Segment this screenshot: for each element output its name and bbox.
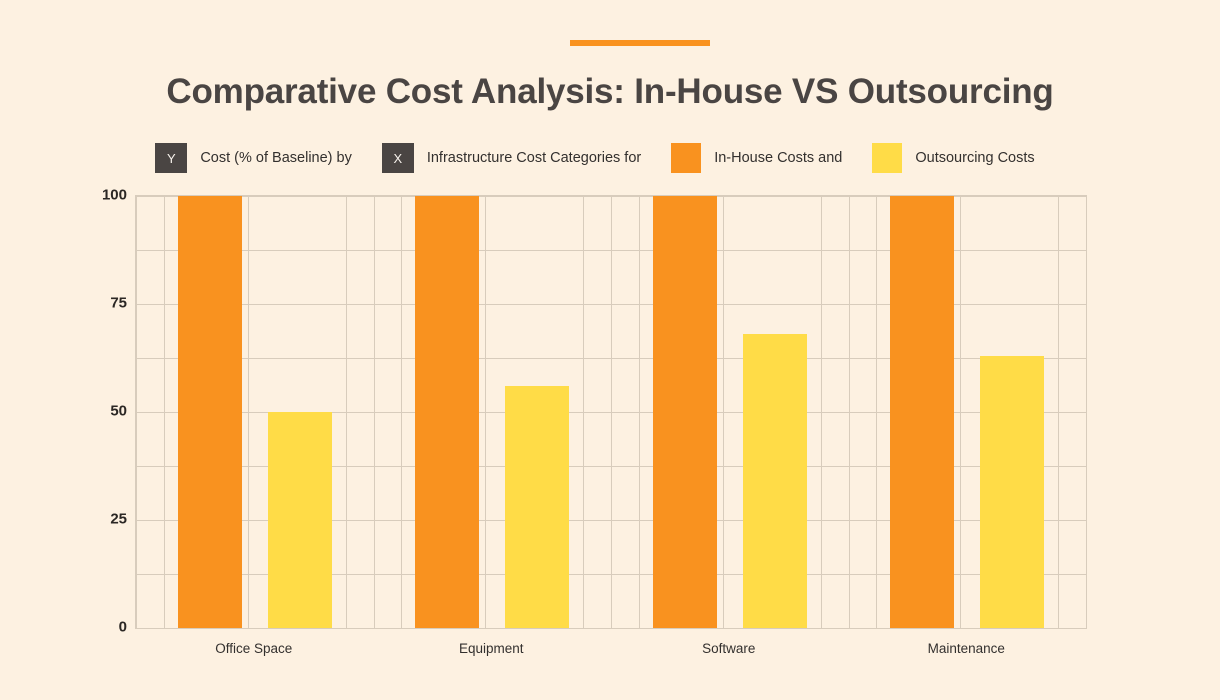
bar-equipment-in-house-costs[interactable] <box>415 196 479 628</box>
bar-maintenance-outsourcing-costs[interactable] <box>980 356 1044 628</box>
gridline-vertical <box>849 196 850 628</box>
gridline-horizontal <box>136 628 1086 629</box>
bar-office-space-outsourcing-costs[interactable] <box>268 412 332 628</box>
x-axis-tick-label: Maintenance <box>928 641 1005 656</box>
y-axis-tick-label: 100 <box>102 187 127 204</box>
bar-office-space-in-house-costs[interactable] <box>178 196 242 628</box>
bar-chart: 0255075100Office SpaceEquipmentSoftwareM… <box>0 0 1220 700</box>
bar-equipment-outsourcing-costs[interactable] <box>505 386 569 628</box>
y-axis-tick-label: 75 <box>110 295 127 312</box>
gridline-vertical <box>485 196 486 628</box>
x-axis-tick-label: Equipment <box>459 641 524 656</box>
gridline-vertical <box>821 196 822 628</box>
gridline-vertical <box>960 196 961 628</box>
plot-area <box>135 195 1087 629</box>
x-axis-tick-label: Software <box>702 641 755 656</box>
gridline-vertical <box>164 196 165 628</box>
gridline-vertical <box>1086 196 1087 628</box>
gridline-vertical <box>611 196 612 628</box>
y-axis-tick-label: 0 <box>119 619 127 636</box>
bar-software-outsourcing-costs[interactable] <box>743 334 807 628</box>
gridline-vertical <box>876 196 877 628</box>
gridline-vertical <box>346 196 347 628</box>
gridline-vertical <box>401 196 402 628</box>
gridline-vertical <box>639 196 640 628</box>
y-axis-tick-label: 25 <box>110 511 127 528</box>
gridline-vertical <box>723 196 724 628</box>
gridline-vertical <box>583 196 584 628</box>
gridline-vertical <box>1058 196 1059 628</box>
gridline-vertical <box>248 196 249 628</box>
bar-maintenance-in-house-costs[interactable] <box>890 196 954 628</box>
bar-software-in-house-costs[interactable] <box>653 196 717 628</box>
gridline-vertical <box>136 196 137 628</box>
y-axis-tick-label: 50 <box>110 403 127 420</box>
x-axis-tick-label: Office Space <box>215 641 292 656</box>
gridline-vertical <box>374 196 375 628</box>
